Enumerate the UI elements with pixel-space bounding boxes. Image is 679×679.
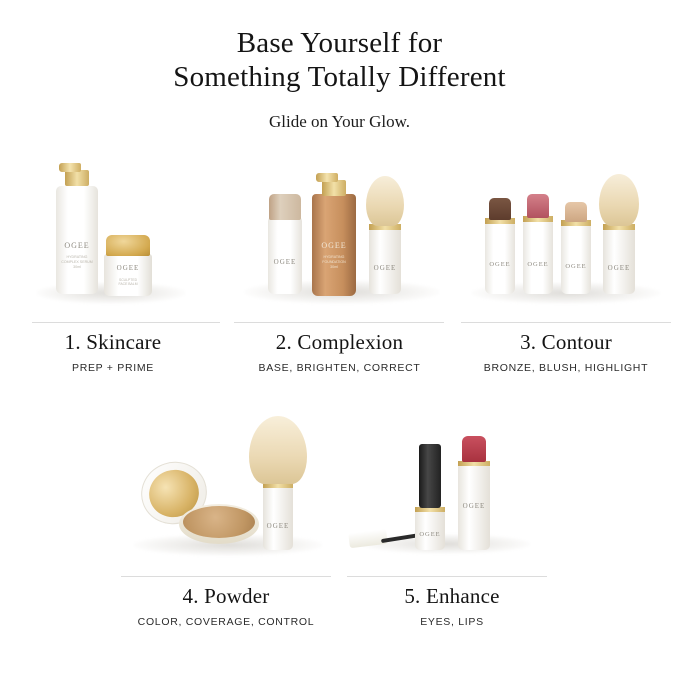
step-subtitle: COLOR, COVERAGE, CONTROL (113, 616, 339, 628)
stick-product (565, 202, 587, 222)
brand-logo: OGEE (561, 263, 591, 270)
blush-stick: OGEE (523, 192, 553, 294)
product-copy: HYDRATINGFOUNDATION30ml (312, 255, 356, 270)
brand-logo: OGEE (485, 261, 515, 268)
step-subtitle: BASE, BRIGHTEN, CORRECT (226, 362, 453, 374)
headline-block: Base Yourself for Something Totally Diff… (0, 0, 679, 132)
brush-bristles (366, 176, 404, 226)
divider (461, 322, 671, 323)
contour-brush: OGEE (599, 172, 639, 294)
powder-compact (137, 462, 261, 550)
brush-handle (369, 228, 401, 294)
enhance-art: OGEE OGEE (339, 392, 565, 572)
product-copy: HYDRATINGCOMPLEX SERUM30ml (56, 255, 98, 270)
brand-logo: OGEE (56, 241, 98, 250)
pump-serum-bottle: OGEE HYDRATINGCOMPLEX SERUM30ml (56, 160, 98, 294)
step-title: 5. Enhance (339, 584, 565, 609)
complexion-art: OGEE OGEE HYDRATINGFOUNDATION30ml OGEE (226, 150, 453, 318)
stick-cap (269, 194, 301, 220)
bronzer-stick: OGEE (485, 196, 515, 294)
brand-logo: OGEE (366, 264, 404, 272)
brand-logo: OGEE (104, 264, 152, 272)
brand-logo: OGEE (268, 258, 302, 266)
brand-logo: OGEE (599, 264, 639, 272)
step-subtitle: PREP + PRIME (0, 362, 226, 374)
skincare-caption: 1. Skincare PREP + PRIME (0, 318, 226, 374)
foundation-pump-bottle: OGEE HYDRATINGFOUNDATION30ml (312, 156, 356, 296)
step-subtitle: EYES, LIPS (339, 616, 565, 628)
brand-logo: OGEE (312, 241, 356, 250)
tube-body (415, 510, 445, 550)
concealer-stick: OGEE (268, 194, 302, 294)
contour-art: OGEE OGEE OGEE (453, 150, 679, 318)
complexion-caption: 2. Complexion BASE, BRIGHTEN, CORRECT (226, 318, 453, 374)
divider (32, 322, 220, 323)
step-title: 2. Complexion (226, 330, 453, 355)
step-enhance: OGEE OGEE 5. Enhance EYES, LIPS (339, 392, 565, 642)
foundation-brush: OGEE (366, 176, 404, 294)
brush-bristles (599, 174, 639, 226)
step-contour: OGEE OGEE OGEE (453, 150, 679, 390)
row2-spacer-right (565, 392, 679, 642)
skincare-art: OGEE HYDRATINGCOMPLEX SERUM30ml OGEE SCU… (0, 150, 226, 318)
step-title: 3. Contour (453, 330, 679, 355)
stick-product (527, 194, 549, 218)
brand-logo: OGEE (458, 502, 490, 510)
subheadline: Glide on Your Glow. (0, 112, 679, 132)
headline-line-1: Base Yourself for (0, 26, 679, 60)
contour-caption: 3. Contour BRONZE, BLUSH, HIGHLIGHT (453, 318, 679, 374)
brand-logo: OGEE (523, 261, 553, 268)
lip-bullet (462, 436, 486, 462)
steps-row-1: OGEE HYDRATINGCOMPLEX SERUM30ml OGEE SCU… (0, 150, 679, 390)
pump-collar (65, 170, 89, 186)
poster: Base Yourself for Something Totally Diff… (0, 0, 679, 679)
powder-brush: OGEE (249, 412, 307, 550)
brush-bristles (249, 416, 307, 484)
row2-spacer-left (0, 392, 113, 642)
brush-handle (603, 228, 635, 294)
steps-row-2: OGEE 4. Powder COLOR, COVERAGE, CONTROL (0, 392, 679, 642)
brush-handle (263, 486, 293, 550)
divider (121, 576, 331, 577)
highlight-stick: OGEE (561, 200, 591, 294)
headline-line-2: Something Totally Different (0, 60, 679, 94)
tube-cap (419, 444, 441, 508)
step-skincare: OGEE HYDRATINGCOMPLEX SERUM30ml OGEE SCU… (0, 150, 226, 390)
lip-crayon: OGEE (457, 434, 491, 550)
step-title: 4. Powder (113, 584, 339, 609)
step-complexion: OGEE OGEE HYDRATINGFOUNDATION30ml OGEE (226, 150, 453, 390)
powder-art: OGEE (113, 392, 339, 572)
stick-product (489, 198, 511, 220)
step-subtitle: BRONZE, BLUSH, HIGHLIGHT (453, 362, 679, 374)
pump-nozzle (59, 163, 81, 172)
gold-lid-jar: OGEE SCULPTEDFACE BALM (104, 234, 152, 296)
step-title: 1. Skincare (0, 330, 226, 355)
mascara-tube: OGEE (413, 442, 447, 550)
powder-caption: 4. Powder COLOR, COVERAGE, CONTROL (113, 572, 339, 628)
jar-gold-lid (106, 235, 150, 256)
divider (347, 576, 547, 577)
enhance-caption: 5. Enhance EYES, LIPS (339, 572, 565, 628)
pressed-powder (183, 506, 255, 538)
step-powder: OGEE 4. Powder COLOR, COVERAGE, CONTROL (113, 392, 339, 642)
brand-logo: OGEE (263, 522, 293, 530)
product-copy: SCULPTEDFACE BALM (104, 278, 152, 287)
divider (234, 322, 444, 323)
brand-logo: OGEE (415, 531, 445, 538)
